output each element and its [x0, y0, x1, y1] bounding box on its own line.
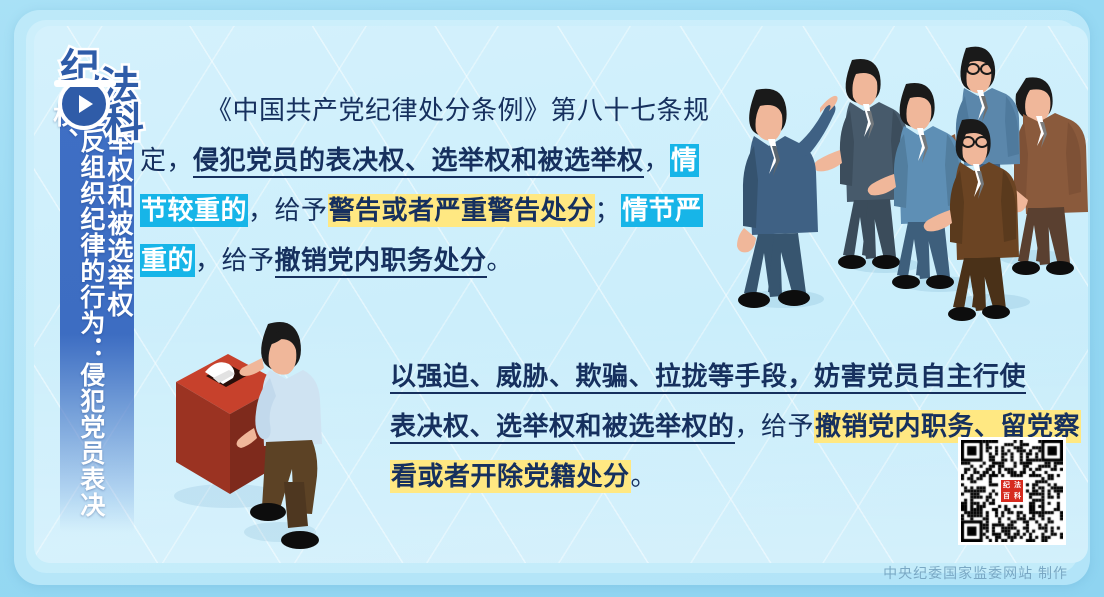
crowd-of-businessmen-illustration — [674, 22, 1104, 322]
p1-l3-yellow-highlight: 警告或者严重警告处分 — [328, 194, 595, 227]
p1-l2-text-b: ， — [644, 146, 671, 175]
figure-brown-suit-back — [1010, 77, 1088, 275]
p1-l4-text-b: 。 — [487, 246, 514, 275]
p2-l2-underlined: 表决权、选举权和被选举权的 — [390, 412, 735, 444]
man-casting-ballot-illustration — [158, 300, 348, 560]
p2-l2-text-a: ，给予 — [735, 412, 815, 441]
logo-char-ke: 科 — [104, 90, 144, 148]
banner-main-title: 选举权和被选举权 — [104, 102, 132, 522]
p1-l4-cyan-highlight: 重的 — [140, 244, 195, 277]
figure-walking-man-arm-raised — [737, 89, 838, 308]
banner-sub-title: 违反组织纪律的行为：侵犯党员表决权、 — [50, 102, 104, 522]
paragraph1-line4: 重的，给予撤销党内职务处分。 — [140, 236, 685, 286]
brand-logo: 纪 法 科 百 — [52, 34, 160, 138]
p2-l3-yellow-highlight: 看或者开除党籍处分 — [390, 460, 631, 493]
p1-l4-text-a: ，给予 — [195, 246, 275, 275]
qr-logo-char-4: 科 — [1014, 491, 1021, 502]
p1-l1-text: 《中国共产党纪律处分条例》第八十七条规 — [140, 96, 710, 125]
qr-logo-char-2: 法 — [1014, 480, 1021, 491]
p2-l3-text-a: 。 — [631, 462, 658, 491]
paragraph2-line1: 以强迫、威胁、欺骗、拉拢等手段，妨害党员自主行使 — [390, 352, 1010, 402]
paragraph1-line2: 定，侵犯党员的表决权、选举权和被选举权，情 — [140, 136, 685, 186]
credit-text: 中央纪委国家监委网站 制作 — [883, 563, 1068, 583]
p1-l3-cyan-highlight-b: 情节严 — [621, 194, 703, 227]
paragraph2-line3: 看或者开除党籍处分。 — [390, 452, 1010, 502]
qr-center-logo: 纪 法 百 科 — [999, 478, 1025, 504]
paragraph2-line2: 表决权、选举权和被选举权的，给予撤销党内职务、留党察 — [390, 402, 1010, 452]
poster-root: 纪 法 科 百 选举权和被选举权 违反组织纪律的行为：侵犯党员表决权、 《中国共… — [0, 0, 1104, 597]
qr-code[interactable]: 纪 法 百 科 — [958, 437, 1066, 545]
paragraph1-line1: 《中国共产党纪律处分条例》第八十七条规 — [140, 86, 685, 136]
p1-l2-underlined: 侵犯党员的表决权、选举权和被选举权 — [193, 146, 644, 178]
qr-logo-char-3: 百 — [1003, 491, 1010, 502]
paragraph1-line3: 节较重的，给予警告或者严重警告处分；情节严 — [140, 186, 685, 236]
p1-l3-text-a: ，给予 — [248, 196, 328, 225]
p1-l2-text-a: 定， — [140, 146, 193, 175]
p1-l3-text-b: ； — [595, 196, 622, 225]
p1-l3-cyan-highlight-a: 节较重的 — [140, 194, 248, 227]
qr-logo-char-1: 纪 — [1003, 480, 1010, 491]
logo-bar-decoration — [54, 80, 116, 87]
p2-l1-underlined: 以强迫、威胁、欺骗、拉拢等手段，妨害党员自主行使 — [390, 362, 1026, 394]
p1-l2-cyan-highlight: 情 — [670, 144, 699, 177]
vertical-title-banner: 选举权和被选举权 违反组织纪律的行为：侵犯党员表决权、 — [60, 92, 134, 532]
paragraph-coercion-clause: 以强迫、威胁、欺骗、拉拢等手段，妨害党员自主行使 表决权、选举权和被选举权的，给… — [390, 352, 1010, 502]
p1-l4-underlined: 撤销党内职务处分 — [275, 246, 487, 278]
paragraph-article-87: 《中国共产党纪律处分条例》第八十七条规 定，侵犯党员的表决权、选举权和被选举权，… — [140, 86, 685, 286]
